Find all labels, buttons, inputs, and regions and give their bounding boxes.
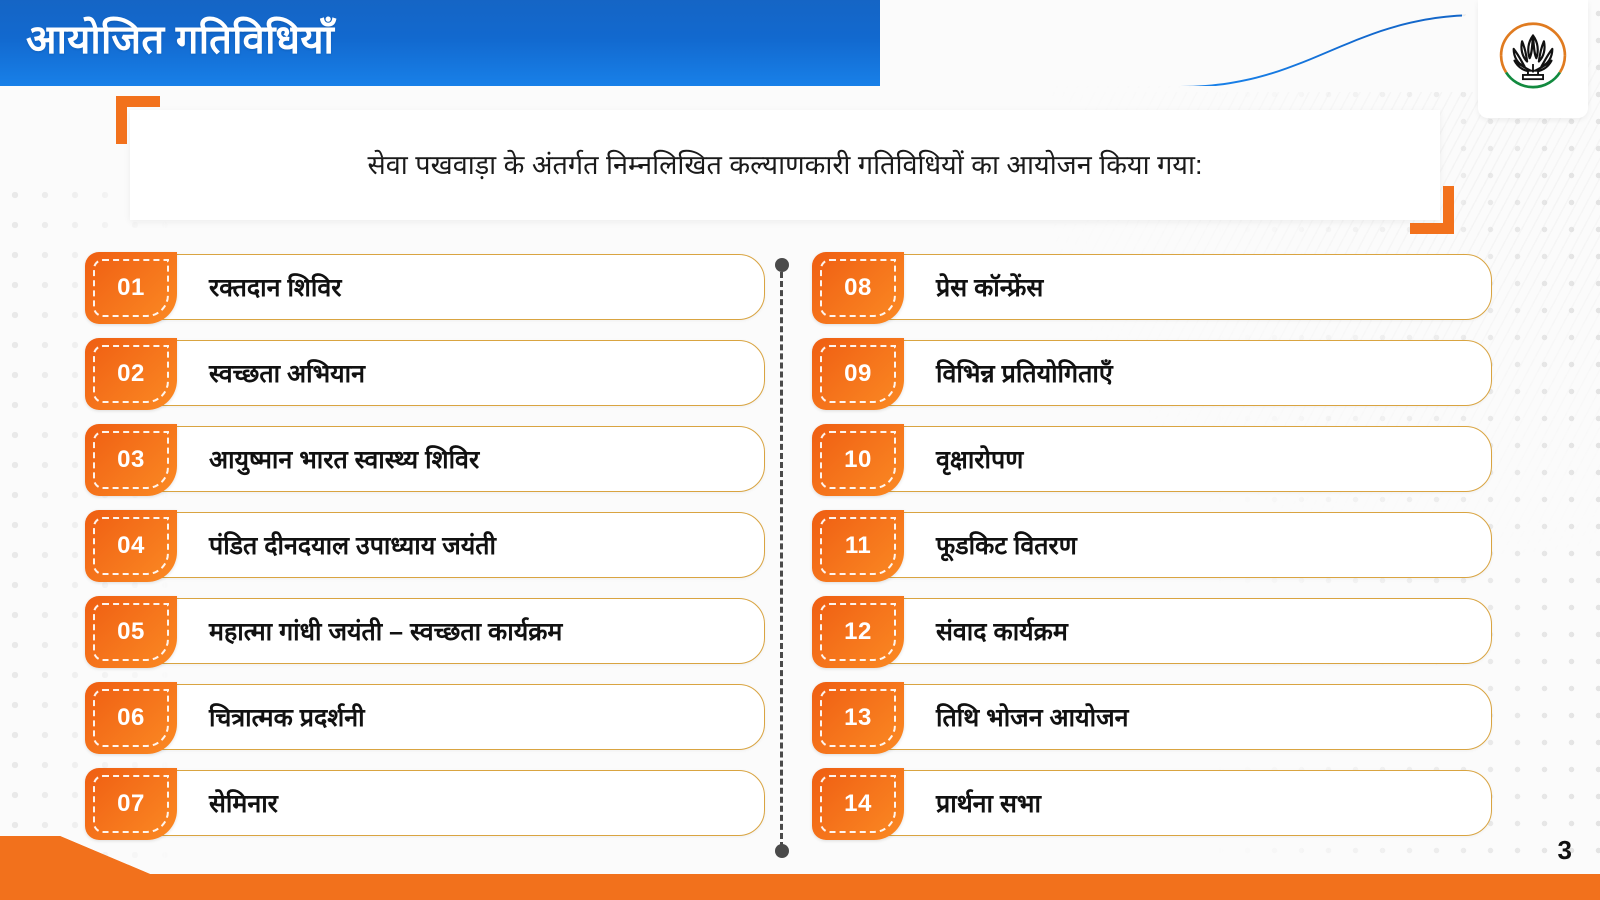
activity-number-badge: 03 <box>85 424 177 496</box>
subtitle-text: सेवा पखवाड़ा के अंतर्गत निम्नलिखित कल्या… <box>130 110 1440 220</box>
activity-label: आयुष्मान भारत स्वास्थ्य शिविर <box>209 424 749 496</box>
activity-number-badge: 13 <box>812 682 904 754</box>
activity-number-badge: 12 <box>812 596 904 668</box>
activity-number-badge: 04 <box>85 510 177 582</box>
activity-row[interactable]: 03आयुष्मान भारत स्वास्थ्य शिविर <box>85 424 765 496</box>
activity-row[interactable]: 01रक्तदान शिविर <box>85 252 765 324</box>
activity-label: विभिन्न प्रतियोगिताएँ <box>936 338 1476 410</box>
activity-label: सेमिनार <box>209 768 749 840</box>
activity-label: फूडकिट वितरण <box>936 510 1476 582</box>
activity-label: स्वच्छता अभियान <box>209 338 749 410</box>
page-title: आयोजित गतिविधियाँ <box>26 10 334 65</box>
activity-row[interactable]: 04पंडित दीनदयाल उपाध्याय जयंती <box>85 510 765 582</box>
activity-number: 05 <box>117 618 145 646</box>
activity-label: संवाद कार्यक्रम <box>936 596 1476 668</box>
subtitle-box: सेवा पखवाड़ा के अंतर्गत निम्नलिखित कल्या… <box>130 110 1440 220</box>
activity-number: 11 <box>845 532 871 560</box>
activity-label: तिथि भोजन आयोजन <box>936 682 1476 754</box>
column-divider <box>775 258 789 858</box>
activity-number: 04 <box>117 532 145 560</box>
activity-number: 13 <box>844 704 872 732</box>
activity-number-badge: 05 <box>85 596 177 668</box>
activity-number-badge: 06 <box>85 682 177 754</box>
activity-row[interactable]: 09विभिन्न प्रतियोगिताएँ <box>812 338 1492 410</box>
divider-dashed-line <box>780 272 783 848</box>
activities-column-right: 08प्रेस कॉन्फ्रेंस09विभिन्न प्रतियोगिताए… <box>812 252 1492 854</box>
activity-row[interactable]: 02स्वच्छता अभियान <box>85 338 765 410</box>
activity-number-badge: 10 <box>812 424 904 496</box>
divider-dot-top-icon <box>775 258 789 272</box>
activities-column-left: 01रक्तदान शिविर02स्वच्छता अभियान03आयुष्म… <box>85 252 765 854</box>
bjp-lotus-logo-icon <box>1491 17 1575 101</box>
divider-dot-bottom-icon <box>775 844 789 858</box>
activity-label: पंडित दीनदयाल उपाध्याय जयंती <box>209 510 749 582</box>
activity-row[interactable]: 13तिथि भोजन आयोजन <box>812 682 1492 754</box>
activity-number: 06 <box>117 704 145 732</box>
activity-number-badge: 14 <box>812 768 904 840</box>
activity-label: प्रार्थना सभा <box>936 768 1476 840</box>
activity-number: 12 <box>844 618 872 646</box>
activity-number-badge: 09 <box>812 338 904 410</box>
activity-number-badge: 08 <box>812 252 904 324</box>
activity-label: चित्रात्मक प्रदर्शनी <box>209 682 749 754</box>
activity-label: महात्मा गांधी जयंती – स्वच्छता कार्यक्रम <box>209 596 749 668</box>
activity-number-badge: 11 <box>812 510 904 582</box>
activity-row[interactable]: 05महात्मा गांधी जयंती – स्वच्छता कार्यक्… <box>85 596 765 668</box>
activity-number: 01 <box>117 274 145 302</box>
activity-label: रक्तदान शिविर <box>209 252 749 324</box>
activity-label: वृक्षारोपण <box>936 424 1476 496</box>
footer-wedge-shape <box>0 810 260 900</box>
activity-number: 09 <box>844 360 872 388</box>
activity-number-badge: 01 <box>85 252 177 324</box>
activity-number: 03 <box>117 446 145 474</box>
activity-row[interactable]: 08प्रेस कॉन्फ्रेंस <box>812 252 1492 324</box>
activity-number: 14 <box>844 790 872 818</box>
logo-card <box>1478 0 1588 118</box>
activity-label: प्रेस कॉन्फ्रेंस <box>936 252 1476 324</box>
activity-number: 02 <box>117 360 145 388</box>
activity-row[interactable]: 10वृक्षारोपण <box>812 424 1492 496</box>
activity-number-badge: 02 <box>85 338 177 410</box>
activities-columns: 01रक्तदान शिविर02स्वच्छता अभियान03आयुष्म… <box>0 252 1600 862</box>
page-number: 3 <box>1558 835 1572 866</box>
activity-row[interactable]: 06चित्रात्मक प्रदर्शनी <box>85 682 765 754</box>
activity-number: 08 <box>844 274 872 302</box>
activity-row[interactable]: 11फूडकिट वितरण <box>812 510 1492 582</box>
activity-row[interactable]: 12संवाद कार्यक्रम <box>812 596 1492 668</box>
activity-row[interactable]: 14प्रार्थना सभा <box>812 768 1492 840</box>
activity-number: 10 <box>844 446 872 474</box>
